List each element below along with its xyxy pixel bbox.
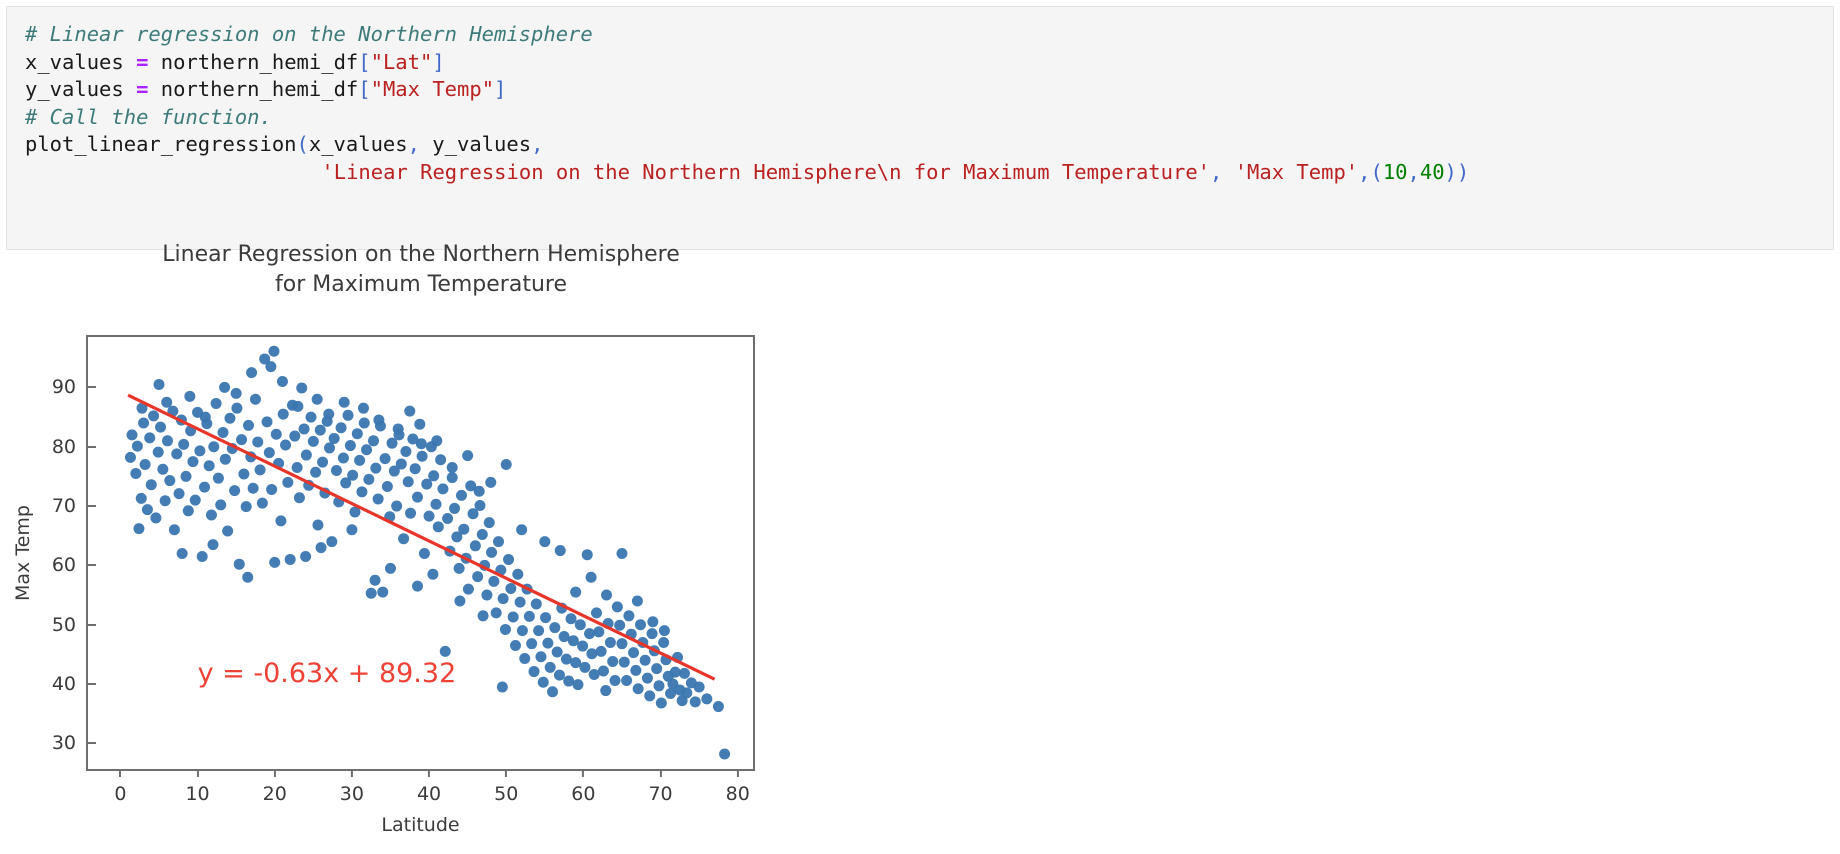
scatter-point: [572, 679, 583, 690]
x-axis-tick: 10: [185, 769, 209, 805]
scatter-point: [391, 501, 402, 512]
scatter-point: [153, 379, 164, 390]
x-tick-mark: [737, 769, 739, 777]
scatter-point: [220, 454, 231, 465]
scatter-point: [519, 653, 530, 664]
y-tick-mark: [88, 386, 96, 388]
scatter-point: [501, 459, 512, 470]
code-token: ,: [1408, 160, 1420, 184]
y-axis-tick: 50: [52, 614, 88, 636]
scatter-point: [257, 498, 268, 509]
scatter-point: [419, 548, 430, 559]
code-token: (: [297, 132, 309, 156]
scatter-point: [701, 693, 712, 704]
y-axis-tick: 70: [52, 495, 88, 517]
scatter-point: [545, 662, 556, 673]
scatter-point: [243, 420, 254, 431]
code-line: 'Linear Regression on the Northern Hemis…: [25, 159, 1833, 187]
scatter-point: [277, 376, 288, 387]
scatter-point: [552, 646, 563, 657]
scatter-point: [470, 540, 481, 551]
code-token: x_values: [25, 50, 136, 74]
scatter-point: [242, 572, 253, 583]
scatter-point: [554, 670, 565, 681]
scatter-point: [184, 391, 195, 402]
scatter-point: [213, 473, 224, 484]
scatter-point: [694, 681, 705, 692]
scatter-point: [292, 401, 303, 412]
scatter-point: [150, 512, 161, 523]
scatter-point: [658, 637, 669, 648]
scatter-point: [535, 651, 546, 662]
scatter-point: [206, 509, 217, 520]
code-token: "Lat": [371, 50, 433, 74]
scatter-point: [174, 488, 185, 499]
scatter-point: [538, 677, 549, 688]
scatter-point: [157, 464, 168, 475]
scatter-point: [579, 662, 590, 673]
scatter-point: [400, 446, 411, 457]
scatter-point: [292, 462, 303, 473]
scatter-point: [336, 422, 347, 433]
scatter-point: [236, 434, 247, 445]
x-axis-label: Latitude: [86, 814, 755, 836]
scatter-point: [204, 460, 215, 471]
scatter-point: [370, 463, 381, 474]
y-tick-mark: [88, 683, 96, 685]
scatter-point: [271, 429, 282, 440]
scatter-point: [280, 439, 291, 450]
y-axis-label: Max Temp: [10, 335, 36, 771]
y-tick-mark: [88, 446, 96, 448]
scatter-point: [633, 683, 644, 694]
scatter-point: [416, 438, 427, 449]
scatter-point: [515, 597, 526, 608]
scatter-point: [312, 394, 323, 405]
scatter-point: [312, 520, 323, 531]
scatter-point: [380, 453, 391, 464]
code-token: ]: [494, 77, 506, 101]
scatter-point: [605, 637, 616, 648]
scatter-point: [403, 476, 414, 487]
scatter-point: [208, 441, 219, 452]
scatter-point: [414, 419, 425, 430]
scatter-point: [310, 467, 321, 478]
scatter-point: [238, 469, 249, 480]
scatter-point: [199, 482, 210, 493]
x-tick-mark: [428, 769, 430, 777]
plot-area: y = -0.63x + 89.32: [88, 337, 753, 769]
scatter-point: [491, 607, 502, 618]
scatter-point: [317, 457, 328, 468]
scatter-point: [289, 431, 300, 442]
scatter-point: [484, 517, 495, 528]
scatter-point: [368, 435, 379, 446]
scatter-point: [456, 490, 467, 501]
scatter-point: [458, 524, 469, 535]
scatter-point: [529, 666, 540, 677]
chart-title-line2: for Maximum Temperature: [86, 270, 756, 300]
scatter-point: [171, 448, 182, 459]
scatter-point: [713, 701, 724, 712]
scatter-point: [219, 382, 230, 393]
scatter-point: [485, 477, 496, 488]
scatter-point: [412, 492, 423, 503]
scatter-point: [358, 403, 369, 414]
scatter-point: [181, 471, 192, 482]
code-token: ,: [1358, 160, 1370, 184]
scatter-point: [593, 626, 604, 637]
scatter-point: [517, 625, 528, 636]
code-token: )): [1445, 160, 1470, 184]
scatter-point: [610, 675, 621, 686]
scatter-point: [248, 483, 259, 494]
scatter-point: [255, 464, 266, 475]
scatter-point: [194, 445, 205, 456]
scatter-point: [659, 625, 670, 636]
scatter-point: [488, 576, 499, 587]
scatter-point: [570, 587, 581, 598]
code-token: plot_linear_regression: [25, 132, 297, 156]
scatter-point: [428, 470, 439, 481]
scatter-point: [493, 536, 504, 547]
scatter-point: [164, 475, 175, 486]
scatter-point: [373, 493, 384, 504]
scatter-point: [582, 549, 593, 560]
scatter-point: [591, 607, 602, 618]
code-cell[interactable]: # Linear regression on the Northern Hemi…: [6, 6, 1834, 250]
scatter-point: [635, 619, 646, 630]
scatter-point: [346, 524, 357, 535]
scatter-point: [241, 501, 252, 512]
scatter-point: [600, 685, 611, 696]
code-token: ,: [408, 132, 420, 156]
scatter-point: [616, 548, 627, 559]
scatter-point: [417, 451, 428, 462]
scatter-point: [183, 505, 194, 516]
scatter-point: [229, 485, 240, 496]
scatter-point: [265, 361, 276, 372]
scatter-point: [373, 415, 384, 426]
scatter-point: [540, 612, 551, 623]
code-token: =: [136, 77, 148, 101]
code-token: [: [358, 77, 370, 101]
scatter-points: [125, 346, 730, 760]
scatter-point: [586, 572, 597, 583]
scatter-point: [323, 409, 334, 420]
code-token: 'Linear Regression on the Northern Hemis…: [321, 160, 1210, 184]
scatter-point: [526, 638, 537, 649]
scatter-point: [412, 581, 423, 592]
scatter-point: [424, 511, 435, 522]
scatter-point: [463, 584, 474, 595]
code-token: # Linear regression on the Northern Hemi…: [25, 22, 593, 46]
scatter-point: [177, 548, 188, 559]
scatter-point: [647, 616, 658, 627]
scatter-point: [136, 493, 147, 504]
x-tick-mark: [505, 769, 507, 777]
scatter-point: [481, 590, 492, 601]
scatter-point: [224, 413, 235, 424]
y-axis-tick: 90: [52, 376, 88, 398]
x-axis-tick: 30: [340, 769, 364, 805]
scatter-point: [398, 533, 409, 544]
y-axis-tick: 80: [52, 436, 88, 458]
x-tick-mark: [274, 769, 276, 777]
scatter-point: [142, 504, 153, 515]
code-token: y_values: [420, 132, 531, 156]
scatter-point: [500, 624, 511, 635]
scatter-point: [366, 588, 377, 599]
scatter-point: [498, 593, 509, 604]
scatter-point: [347, 470, 358, 481]
scatter-point: [505, 583, 516, 594]
code-line: plot_linear_regression(x_values, y_value…: [25, 131, 1833, 159]
x-axis-tick: 50: [494, 769, 518, 805]
scatter-point: [478, 610, 489, 621]
scatter-point: [462, 450, 473, 461]
scatter-point: [719, 749, 730, 760]
scatter-point: [370, 575, 381, 586]
scatter-point: [385, 563, 396, 574]
x-tick-mark: [351, 769, 353, 777]
scatter-point: [547, 686, 558, 697]
scatter-point: [510, 640, 521, 651]
scatter-point: [524, 611, 535, 622]
scatter-point: [218, 427, 229, 438]
scatter-point: [266, 484, 277, 495]
x-axis-tick: 60: [571, 769, 595, 805]
scatter-point: [437, 483, 448, 494]
scatter-point: [642, 673, 653, 684]
scatter-point: [197, 551, 208, 562]
y-axis-tick: 60: [52, 554, 88, 576]
scatter-point: [454, 595, 465, 606]
code-token: northern_hemi_df: [148, 50, 358, 74]
scatter-point: [512, 569, 523, 580]
code-line: y_values = northern_hemi_df["Max Temp"]: [25, 76, 1833, 104]
x-axis-tick: 80: [726, 769, 750, 805]
scatter-point: [331, 465, 342, 476]
scatter-point: [246, 367, 257, 378]
scatter-point: [449, 503, 460, 514]
code-token: ,: [531, 132, 543, 156]
scatter-point: [262, 416, 273, 427]
scatter-point: [623, 610, 634, 621]
scatter-point: [612, 601, 623, 612]
scatter-point: [630, 665, 641, 676]
scatter-point: [607, 656, 618, 667]
scatter-point: [531, 598, 542, 609]
scatter-point: [396, 458, 407, 469]
scatter-point: [306, 412, 317, 423]
scatter-point: [190, 495, 201, 506]
scatter-point: [153, 447, 164, 458]
scatter-point: [345, 440, 356, 451]
x-axis-tick: 70: [648, 769, 672, 805]
scatter-point: [148, 410, 159, 421]
figure-output: Linear Regression on the Northern Hemisp…: [0, 252, 800, 854]
scatter-point: [133, 523, 144, 534]
regression-equation-annotation: y = -0.63x + 89.32: [198, 658, 457, 689]
scatter-point: [454, 563, 465, 574]
scatter-point: [138, 418, 149, 429]
notebook-page: # Linear regression on the Northern Hemi…: [0, 0, 1840, 854]
scatter-point: [130, 468, 141, 479]
scatter-point: [301, 450, 312, 461]
code-token: (: [1370, 160, 1382, 184]
code-token: ]: [432, 50, 444, 74]
scatter-point: [654, 680, 665, 691]
scatter-point: [640, 655, 651, 666]
scatter-point: [132, 441, 143, 452]
scatter-point: [278, 409, 289, 420]
code-token: "Max Temp": [371, 77, 494, 101]
scatter-point: [632, 595, 643, 606]
scatter-point: [628, 647, 639, 658]
scatter-point: [252, 437, 263, 448]
x-tick-mark: [119, 769, 121, 777]
scatter-point: [359, 418, 370, 429]
scatter-point: [539, 536, 550, 547]
scatter-point: [125, 452, 136, 463]
scatter-point: [316, 542, 327, 553]
scatter-point: [656, 698, 667, 709]
scatter-point: [338, 453, 349, 464]
scatter-point: [231, 388, 242, 399]
scatter-point: [598, 665, 609, 676]
scatter-point: [647, 628, 658, 639]
scatter-point: [679, 668, 690, 679]
scatter-point: [222, 525, 233, 536]
scatter-point: [155, 422, 166, 433]
scatter-point: [282, 477, 293, 488]
code-source[interactable]: # Linear regression on the Northern Hemi…: [25, 21, 1833, 186]
scatter-point: [315, 425, 326, 436]
scatter-point: [382, 481, 393, 492]
scatter-point: [354, 455, 365, 466]
scatter-point: [187, 456, 198, 467]
code-token: ,: [1210, 160, 1222, 184]
x-axis-tick: 40: [417, 769, 441, 805]
regression-line: [128, 395, 714, 679]
chart-title-line1: Linear Regression on the Northern Hemisp…: [86, 240, 756, 270]
code-token: 10: [1383, 160, 1408, 184]
scatter-point: [231, 403, 242, 414]
scatter-point: [474, 500, 485, 511]
scatter-point: [586, 648, 597, 659]
scatter-point: [339, 397, 350, 408]
scatter-point: [200, 412, 211, 423]
scatter-point: [140, 459, 151, 470]
scatter-point: [299, 423, 310, 434]
scatter-point: [601, 590, 612, 601]
scatter-point: [435, 454, 446, 465]
scatter-point: [296, 383, 307, 394]
scatter-point: [208, 539, 219, 550]
code-line: # Linear regression on the Northern Hemi…: [25, 21, 1833, 49]
x-tick-mark: [197, 769, 199, 777]
scatter-point: [503, 554, 514, 565]
scatter-point: [294, 492, 305, 503]
scatter-point: [361, 444, 372, 455]
scatter-point: [405, 508, 416, 519]
scatter-point: [516, 524, 527, 535]
scatter-point: [614, 620, 625, 631]
code-token: y_values: [25, 77, 136, 101]
scatter-point: [324, 442, 335, 453]
scatter-point: [549, 622, 560, 633]
scatter-point: [474, 486, 485, 497]
code-line: # Call the function.: [25, 104, 1833, 132]
scatter-point: [644, 690, 655, 701]
scatter-point: [575, 619, 586, 630]
scatter-point: [596, 646, 607, 657]
scatter-point: [447, 462, 458, 473]
scatter-point: [264, 447, 275, 458]
scatter-point: [431, 499, 442, 510]
scatter-point: [619, 657, 630, 668]
scatter-point: [275, 515, 286, 526]
scatter-point: [356, 486, 367, 497]
scatter-point: [577, 641, 588, 652]
scatter-point: [393, 423, 404, 434]
scatter-point: [584, 628, 595, 639]
scatter-point: [377, 587, 388, 598]
scatter-point: [343, 410, 354, 421]
scatter-point: [169, 524, 180, 535]
x-tick-mark: [660, 769, 662, 777]
x-axis-tick: 20: [263, 769, 287, 805]
scatter-point: [250, 394, 261, 405]
scatter-point: [234, 559, 245, 570]
scatter-point: [144, 432, 155, 443]
scatter-point: [363, 474, 374, 485]
scatter-point: [427, 569, 438, 580]
scatter-point: [497, 681, 508, 692]
scatter-point: [566, 613, 577, 624]
scatter-point: [211, 398, 222, 409]
scatter-point: [555, 545, 566, 556]
scatter-point: [146, 479, 157, 490]
scatter-point: [326, 536, 337, 547]
scatter-point: [542, 638, 553, 649]
chart-title: Linear Regression on the Northern Hemisp…: [86, 240, 756, 300]
scatter-point: [477, 529, 488, 540]
scatter-point: [215, 499, 226, 510]
plot-axes: y = -0.63x + 89.32 304050607080900102030…: [86, 335, 755, 771]
scatter-point: [308, 436, 319, 447]
code-token: [: [358, 50, 370, 74]
scatter-point: [486, 547, 497, 558]
scatter-point: [442, 513, 453, 524]
scatter-point: [329, 433, 340, 444]
scatter-point: [681, 687, 692, 698]
scatter-point: [268, 346, 279, 357]
scatter-point: [621, 675, 632, 686]
x-tick-mark: [582, 769, 584, 777]
scatter-point: [440, 646, 451, 657]
y-tick-mark: [88, 564, 96, 566]
scatter-point: [285, 554, 296, 565]
y-tick-mark: [88, 505, 96, 507]
y-tick-mark: [88, 742, 96, 744]
scatter-point: [651, 663, 662, 674]
scatter-point: [447, 472, 458, 483]
y-axis-tick: 40: [52, 673, 88, 695]
scatter-point: [161, 397, 172, 408]
scatter-point: [431, 435, 442, 446]
